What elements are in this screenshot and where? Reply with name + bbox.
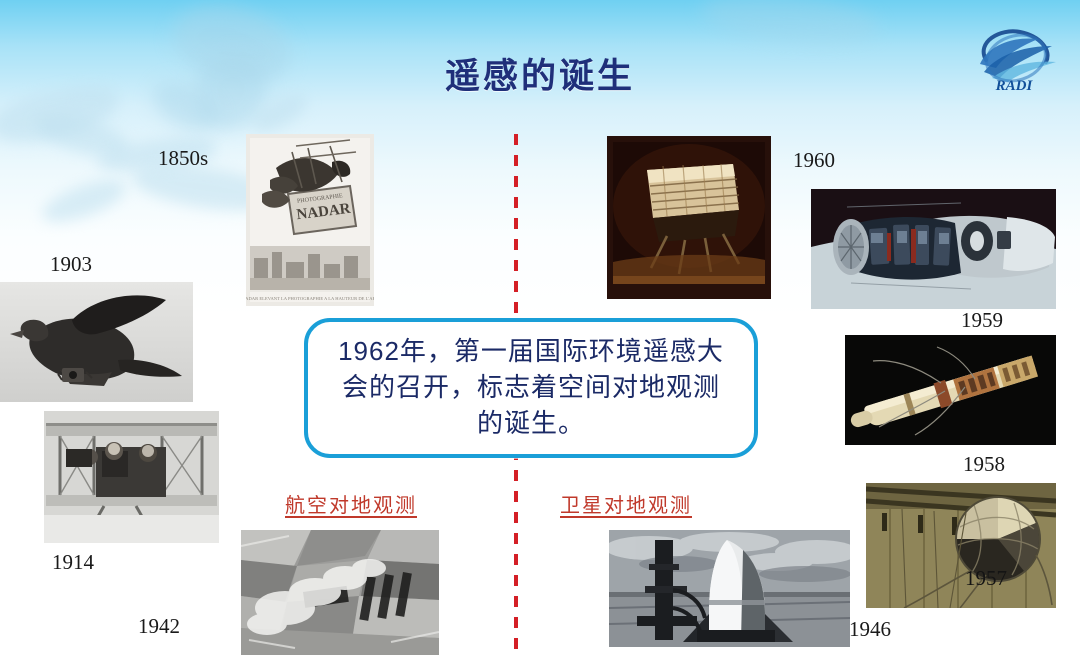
year-label-1959: 1959 [961,308,1003,333]
year-label-1958: 1958 [963,452,1005,477]
year-label-1946: 1946 [849,617,891,642]
photo-wwii-aerial-reconnaissance [241,530,439,655]
world-map-watermark [38,172,131,230]
year-label-1850s: 1850s [158,146,208,171]
radi-logo: RADI [966,20,1062,96]
world-map-watermark [698,0,882,51]
world-map-watermark [31,105,133,164]
radi-logo-text: RADI [995,78,1034,94]
photo-tiros-satellite [607,136,771,299]
photo-explorer-1-satellite [845,335,1056,445]
photo-sputnik-1-satellite [866,483,1056,608]
year-label-1914: 1914 [52,550,94,575]
photo-pigeon-aerial-camera [0,282,193,402]
callout-text: 1962年，第一届国际环境遥感大会的召开，标志着空间对地观测的诞生。 [308,334,754,442]
slide-canvas: 遥感的诞生 RADI 1850s [0,0,1080,662]
svg-text:NADAR ELEVANT LA PHOTOGRAPHIE: NADAR ELEVANT LA PHOTOGRAPHIE A LA HAUTE… [246,296,374,301]
photo-corona-satellite-capsule [811,189,1056,309]
callout-box: 1962年，第一届国际环境遥感大会的召开，标志着空间对地观测的诞生。 [304,318,758,458]
year-label-1957: 1957 [965,566,1007,591]
year-label-1960: 1960 [793,148,835,173]
year-label-1942: 1942 [138,614,180,639]
section-label-aerial: 航空对地观测 [285,489,417,518]
photo-nadar-balloon: NADAR PHOTOGRAPHIE NADAR ELEVANT LA PHOT… [246,134,374,306]
page-title: 遥感的诞生 [0,48,1080,99]
photo-biplane-crew [44,411,219,543]
section-label-satellite: 卫星对地观测 [560,489,692,518]
year-label-1903: 1903 [50,252,92,277]
photo-v2-rocket [609,530,850,647]
